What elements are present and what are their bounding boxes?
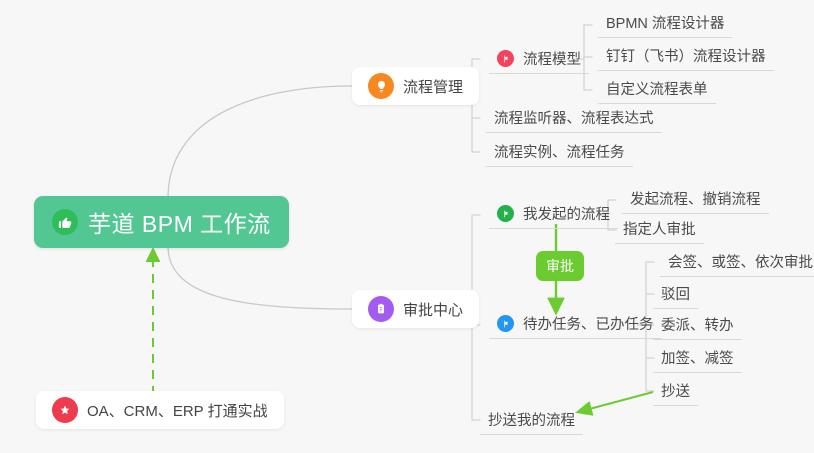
leaf-label: 钉钉（飞书）流程设计器 <box>606 45 766 66</box>
mindmap-canvas: 芋道 BPM 工作流 流程管理 流程模型 BPMN 流程设计器 钉钉（飞书）流程… <box>0 0 814 453</box>
root-node[interactable]: 芋道 BPM 工作流 <box>34 196 289 248</box>
bottom-note-node[interactable]: OA、CRM、ERP 打通实战 <box>36 391 284 429</box>
leaf-label: 发起流程、撤销流程 <box>630 188 761 209</box>
leaf-cc[interactable]: 抄送 <box>653 376 698 406</box>
branch-node-approval-center[interactable]: 审批中心 <box>352 290 479 328</box>
leaf-add-remove-sign[interactable]: 加签、减签 <box>653 343 742 373</box>
approval-pill-label: 审批 <box>546 256 574 276</box>
approval-pill-badge: 审批 <box>536 251 584 281</box>
leaf-label: 抄送我的流程 <box>488 409 575 430</box>
node-todo-done-tasks[interactable]: 待办任务、已办任务 <box>489 309 662 339</box>
leaf-custom-form[interactable]: 自定义流程表单 <box>598 74 716 104</box>
node-label: 待办任务、已办任务 <box>523 313 654 334</box>
thumbs-up-icon <box>52 209 78 235</box>
leaf-cc-to-me[interactable]: 抄送我的流程 <box>480 405 583 435</box>
leaf-label: 自定义流程表单 <box>606 78 708 99</box>
leaf-label: 流程实例、流程任务 <box>494 141 625 162</box>
leaf-dingtalk-designer[interactable]: 钉钉（飞书）流程设计器 <box>598 41 774 71</box>
node-label: 流程模型 <box>523 48 581 69</box>
leaf-label: 会签、或签、依次审批 <box>668 251 813 272</box>
leaf-label: 流程监听器、流程表达式 <box>494 107 654 128</box>
leaf-reject[interactable]: 驳回 <box>653 279 698 309</box>
lightbulb-icon <box>368 73 394 99</box>
node-process-model[interactable]: 流程模型 <box>489 44 589 74</box>
leaf-label: 加签、减签 <box>661 347 734 368</box>
cc-flow-arrow <box>578 392 653 412</box>
leaf-label: 委派、转办 <box>661 314 734 335</box>
node-label: 我发起的流程 <box>523 203 610 224</box>
leaf-process-listener[interactable]: 流程监听器、流程表达式 <box>486 103 662 133</box>
node-my-initiated-processes[interactable]: 我发起的流程 <box>489 199 618 229</box>
leaf-label: 指定人审批 <box>623 218 696 239</box>
bottom-note-label: OA、CRM、ERP 打通实战 <box>87 400 268 421</box>
leaf-process-instance[interactable]: 流程实例、流程任务 <box>486 137 633 167</box>
leaf-bpmn-designer[interactable]: BPMN 流程设计器 <box>598 8 732 38</box>
leaf-start-cancel-process[interactable]: 发起流程、撤销流程 <box>622 184 769 214</box>
clipboard-icon <box>368 296 394 322</box>
leaf-label: BPMN 流程设计器 <box>606 12 724 33</box>
root-label: 芋道 BPM 工作流 <box>88 205 271 239</box>
flag-icon <box>497 205 514 222</box>
star-icon <box>52 397 78 423</box>
leaf-label: 抄送 <box>661 380 690 401</box>
leaf-countersign[interactable]: 会签、或签、依次审批 <box>660 247 814 277</box>
branch-label: 流程管理 <box>403 76 463 97</box>
leaf-designated-approver[interactable]: 指定人审批 <box>615 214 704 244</box>
flag-icon <box>497 315 514 332</box>
leaf-label: 驳回 <box>661 283 690 304</box>
branch-label: 审批中心 <box>403 299 463 320</box>
flag-icon <box>497 50 514 67</box>
leaf-delegate-transfer[interactable]: 委派、转办 <box>653 310 742 340</box>
branch-node-process-management[interactable]: 流程管理 <box>352 67 479 105</box>
